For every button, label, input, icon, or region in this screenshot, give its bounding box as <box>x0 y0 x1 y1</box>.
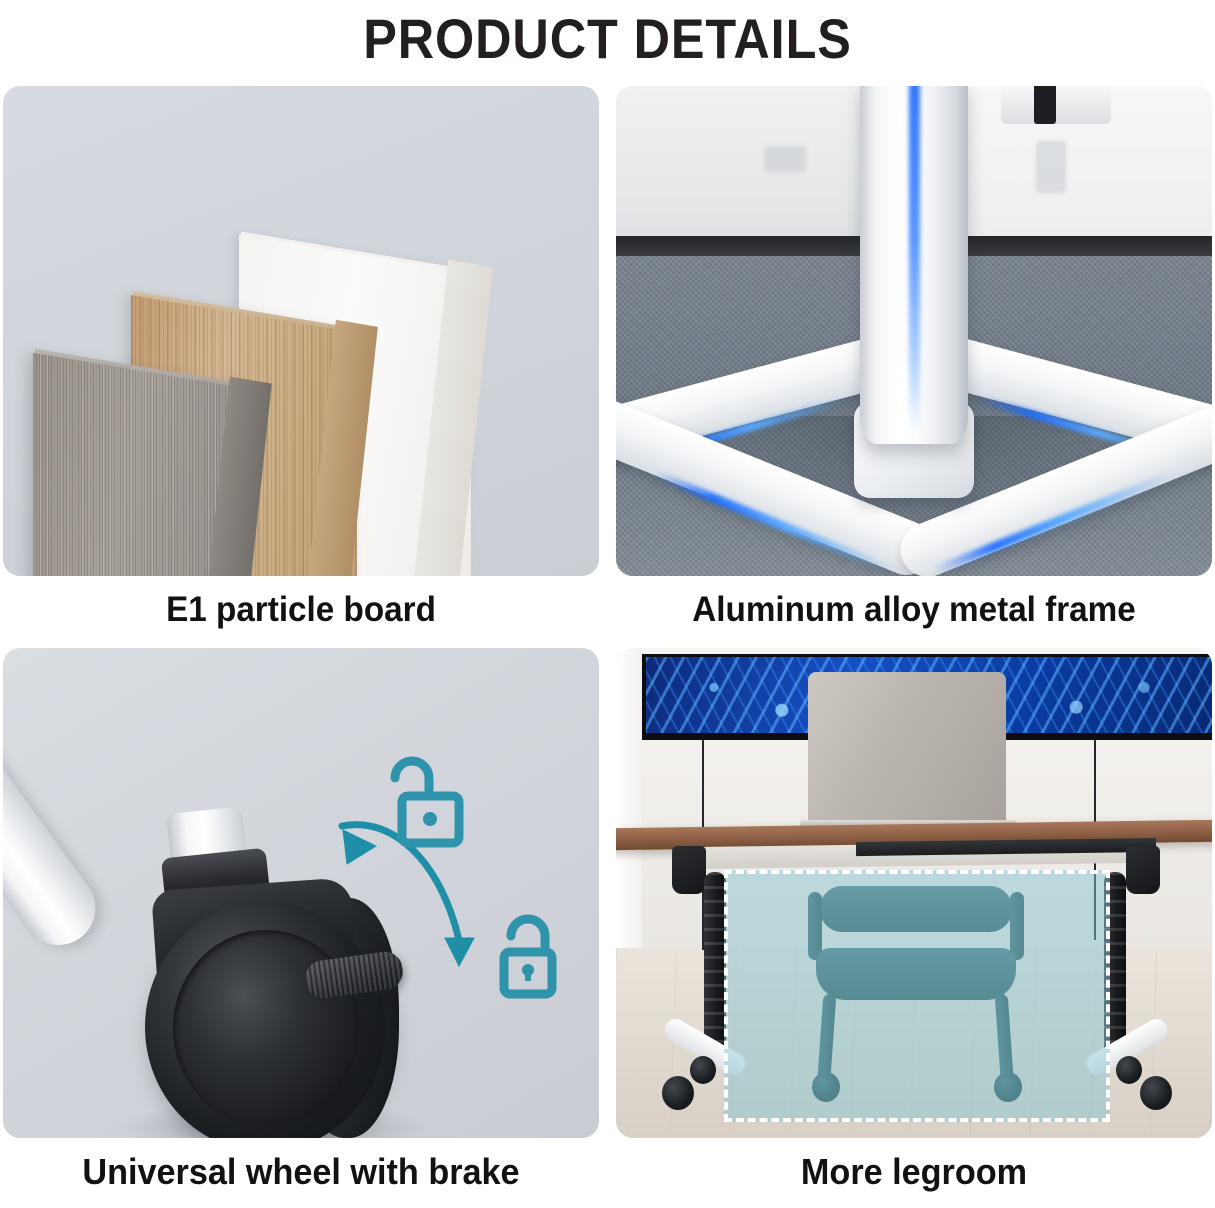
room-wall-left-edge <box>616 648 642 968</box>
desk-caster-left-rear <box>690 1056 716 1084</box>
desk-caster-right-front <box>1140 1076 1172 1110</box>
panel-aluminum-frame[interactable]: Aluminum alloy metal frame <box>616 86 1212 646</box>
panel-more-legroom[interactable]: More legroom <box>616 648 1212 1208</box>
universal-wheel-image <box>3 648 599 1138</box>
laptop-lid <box>808 672 1006 824</box>
page-title: PRODUCT DETAILS <box>61 0 1155 76</box>
wall-blur-detail <box>764 146 806 172</box>
panel-universal-wheel[interactable]: Universal wheel with brake <box>3 648 599 1208</box>
desk-caster-left-front <box>662 1076 694 1110</box>
unlock-icon <box>395 761 459 843</box>
desk-leg-post-left <box>704 872 726 1062</box>
toggle-arrow-icon <box>342 825 474 1138</box>
wall-bracket <box>1001 86 1111 124</box>
particle-board-image <box>3 86 599 576</box>
legroom-highlight <box>724 870 1110 1122</box>
brake-state-indicators <box>3 648 599 1138</box>
desk-bracket-right <box>1126 846 1160 894</box>
panel-caption-universal-wheel: Universal wheel with brake <box>18 1140 584 1204</box>
panel-particle-board[interactable]: E1 particle board <box>3 86 599 646</box>
panel-caption-more-legroom: More legroom <box>631 1140 1197 1204</box>
panel-caption-particle-board: E1 particle board <box>18 578 584 642</box>
desk-bracket-left <box>672 846 706 894</box>
panel-caption-aluminum-frame: Aluminum alloy metal frame <box>631 578 1197 642</box>
desk-caster-right-rear <box>1116 1056 1142 1084</box>
wall-bracket-shadow <box>1036 141 1066 193</box>
product-details-grid: E1 particle board Aluminum alloy <box>0 86 1215 1205</box>
aluminum-frame-image <box>616 86 1212 576</box>
wall-bracket-dark <box>1034 86 1056 124</box>
more-legroom-image <box>616 648 1212 1138</box>
glow-accent-column <box>909 86 920 432</box>
lock-icon <box>504 919 552 994</box>
